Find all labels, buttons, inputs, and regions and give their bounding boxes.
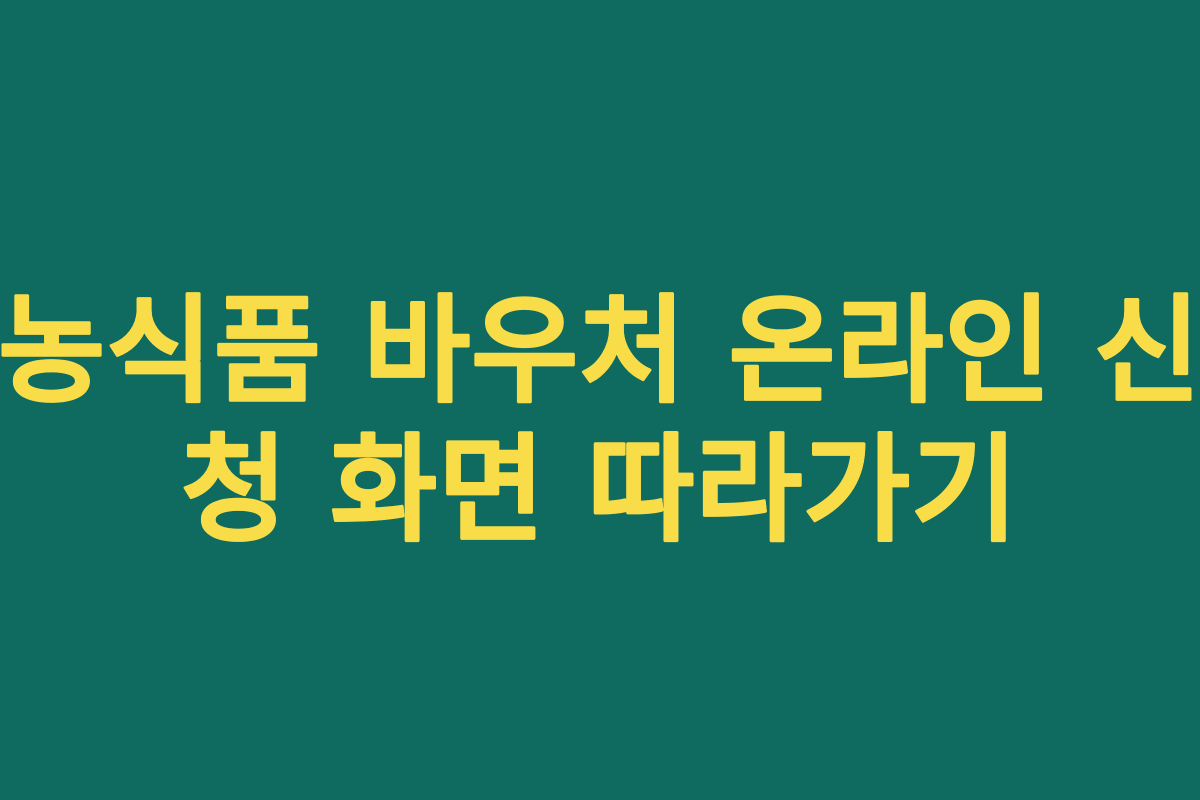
headline-block: 농식품 바우처 온라인 신 청 화면 따라가기 bbox=[0, 286, 1200, 556]
title-card: 농식품 바우처 온라인 신 청 화면 따라가기 bbox=[0, 0, 1200, 800]
headline-line-2: 청 화면 따라가기 bbox=[181, 425, 1019, 556]
headline-line-1: 농식품 바우처 온라인 신 bbox=[0, 286, 1200, 417]
